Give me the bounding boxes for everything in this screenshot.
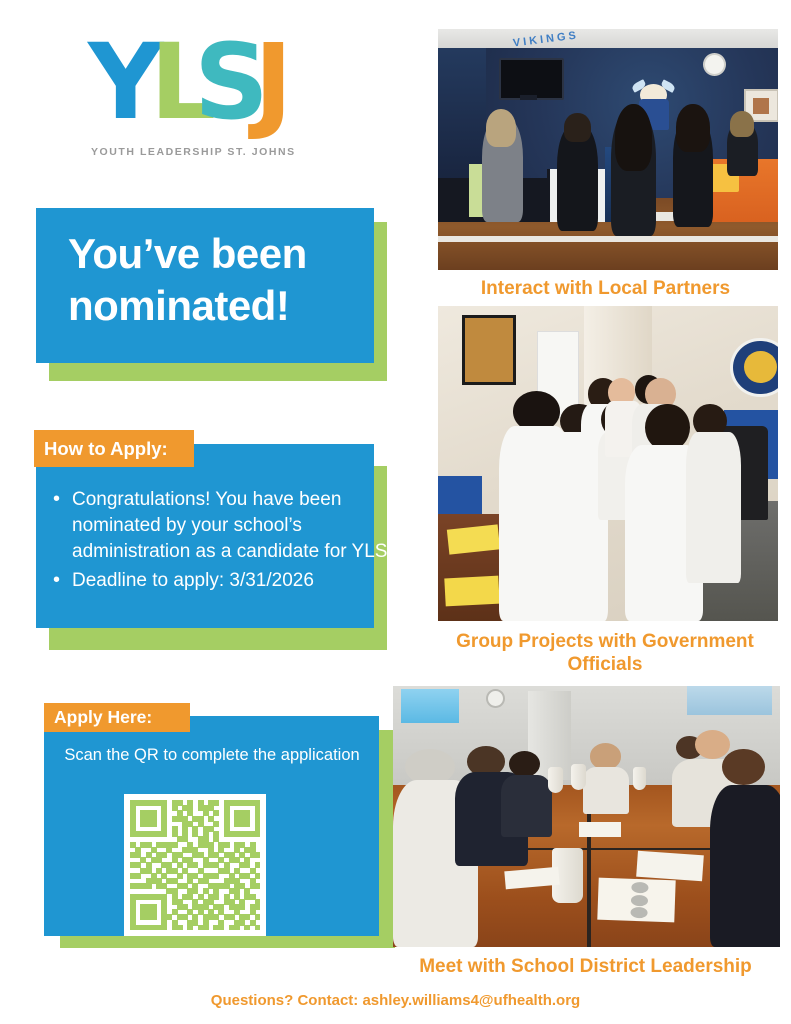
contact-footer[interactable]: Questions? Contact: ashley.williams4@ufh… bbox=[0, 992, 791, 1009]
wall-tv-icon bbox=[499, 58, 564, 101]
paper-sheet bbox=[636, 851, 703, 882]
flyer-page: Y L S J YOUTH LEADERSHIP ST. JOHNS You’v… bbox=[0, 0, 791, 1024]
student-head bbox=[695, 730, 730, 759]
window-right bbox=[687, 686, 772, 715]
volunteer-hair bbox=[730, 111, 754, 138]
printed-chart-handout bbox=[597, 878, 676, 922]
student-head bbox=[590, 743, 621, 769]
poster-image bbox=[465, 318, 513, 381]
window-left bbox=[401, 689, 459, 723]
water-bottle bbox=[571, 764, 586, 790]
qr-code-frame[interactable] bbox=[124, 794, 266, 936]
student-shirt bbox=[583, 767, 629, 814]
ylsj-logo: Y L S J YOUTH LEADERSHIP ST. JOHNS bbox=[88, 30, 328, 165]
tv-mount bbox=[520, 95, 537, 100]
page-title: You’ve been nominated! bbox=[68, 228, 368, 332]
student-top bbox=[501, 775, 551, 838]
list-item: Deadline to apply: 3/31/2026 bbox=[72, 568, 397, 594]
qr-code-image[interactable] bbox=[130, 800, 260, 930]
pie-chart-icon bbox=[630, 895, 647, 906]
leader-suit bbox=[710, 785, 780, 947]
attendee-hair bbox=[486, 109, 517, 148]
attendee-hair bbox=[564, 113, 591, 142]
paper-sheet bbox=[579, 822, 622, 838]
photo-interact-with-local-partners: VIKINGS bbox=[438, 29, 778, 270]
water-bottle bbox=[633, 767, 647, 790]
photo-caption-2: Group Projects with Government Officials bbox=[430, 630, 780, 676]
photo-caption-1: Interact with Local Partners bbox=[420, 277, 791, 300]
seal-inner bbox=[744, 351, 777, 383]
how-to-apply-tab: How to Apply: bbox=[34, 430, 194, 467]
yellow-paper bbox=[444, 575, 500, 606]
water-bottle bbox=[548, 767, 563, 793]
pie-chart-icon bbox=[630, 907, 647, 918]
leader-head bbox=[722, 749, 765, 786]
framed-poster bbox=[462, 315, 516, 384]
qr-instruction-text: Scan the QR to complete the application bbox=[54, 744, 370, 767]
picture-frame-inner bbox=[753, 98, 769, 115]
logo-letter-j: J bbox=[254, 30, 289, 134]
photo-caption-3: Meet with School District Leadership bbox=[380, 955, 791, 978]
student-head bbox=[645, 404, 689, 451]
attendee-hair bbox=[615, 104, 652, 171]
pie-chart-icon bbox=[631, 882, 648, 893]
apply-here-tab: Apply Here: bbox=[44, 703, 190, 732]
list-item: Congratulations! You have been nominated… bbox=[72, 487, 397, 566]
floor-line bbox=[438, 236, 778, 242]
attendee-hair bbox=[676, 104, 710, 152]
how-to-apply-bullet-list: Congratulations! You have been nominated… bbox=[44, 487, 397, 596]
logo-wordmark: Y L S J bbox=[88, 30, 312, 138]
logo-tagline: YOUTH LEADERSHIP ST. JOHNS bbox=[91, 146, 323, 158]
photo-school-district-leadership bbox=[393, 686, 780, 947]
county-seal-icon bbox=[730, 338, 778, 398]
student-polo bbox=[686, 432, 740, 583]
photo-group-projects bbox=[438, 306, 778, 621]
logo-letter-y: Y bbox=[88, 30, 159, 134]
yellow-paper bbox=[447, 524, 500, 554]
